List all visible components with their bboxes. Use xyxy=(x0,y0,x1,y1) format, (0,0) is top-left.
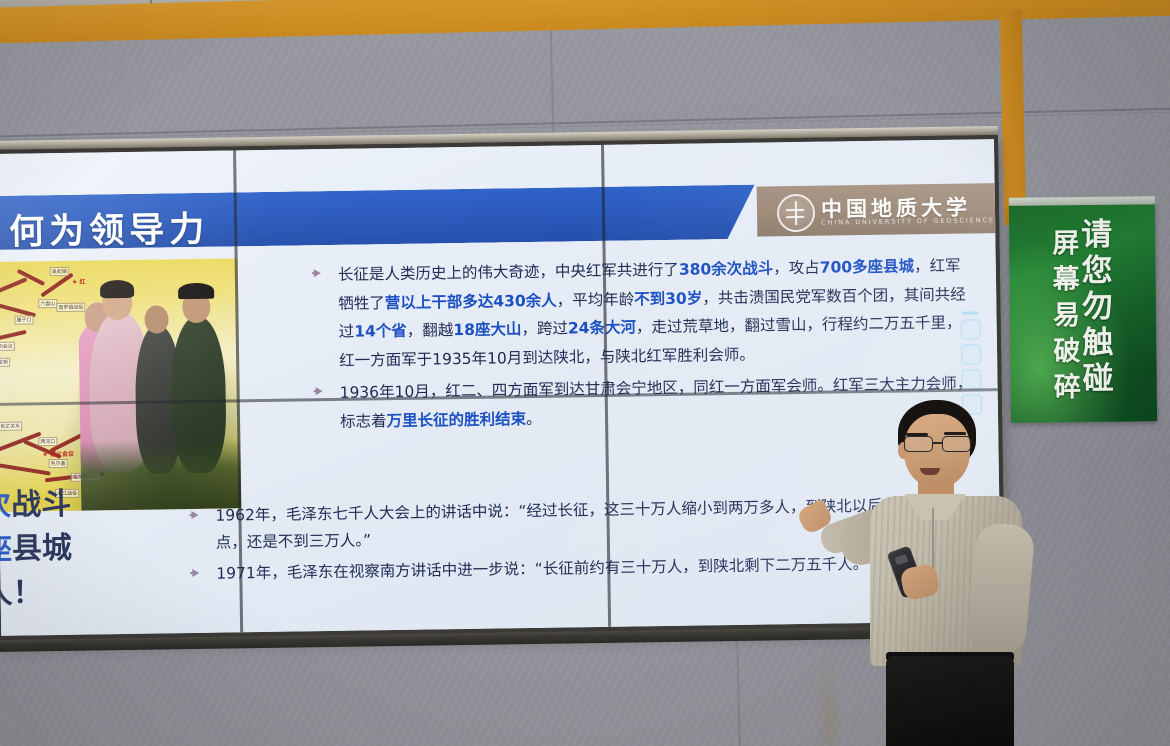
glasses-lens xyxy=(942,436,971,452)
trousers xyxy=(886,656,1014,746)
warning-line-left: 屏幕易破碎 xyxy=(1052,219,1081,408)
warning-char: 幕 xyxy=(1052,263,1079,296)
highlight-text: 24条大河 xyxy=(568,318,636,337)
slide-title: 何为领导力 xyxy=(9,201,210,255)
university-name-en: CHINA UNIVERSITY OF GEOSCIENCES xyxy=(821,216,1001,227)
bullet-arrow-icon xyxy=(316,387,323,395)
soldiers-photo xyxy=(78,258,242,510)
overlay-line: 余次战斗 xyxy=(0,481,192,529)
long-march-map-image: 吴起镇 六盘山 直罗镇战役 腊子口 懋功会议 泸定桥 百丈关水 两河口 毛尔盖 … xyxy=(0,258,241,512)
bullet-arrow-icon xyxy=(192,569,199,577)
overlay-line: 多座县城 xyxy=(0,525,192,573)
pen-icon[interactable] xyxy=(961,319,981,339)
right-arm xyxy=(966,522,1035,657)
warning-char: 碰 xyxy=(1083,363,1114,396)
list-item: 长征是人类历史上的伟大奇迹，中央红军共进行了380余次战斗，攻占700多座县城，… xyxy=(312,251,974,375)
plain-text: ，翻越 xyxy=(407,321,454,340)
glasses-icon xyxy=(902,436,972,451)
plain-text: ，平均年龄 xyxy=(557,290,635,309)
highlight-text: 万里长征的胜利结束 xyxy=(386,410,526,430)
highlight-text: 18座大山 xyxy=(453,320,521,339)
eyebrow xyxy=(944,432,966,435)
plain-text: ，跨过 xyxy=(521,319,568,338)
highlight-text: 700多座县城 xyxy=(820,257,915,276)
warning-line-right: 请您勿触碰 xyxy=(1081,219,1114,408)
highlight-text: 营以上干部多达430余人 xyxy=(385,291,557,312)
highlight-text: 14个省 xyxy=(354,322,407,341)
bullet-arrow-icon xyxy=(314,269,321,277)
highlight-text: 不到30岁 xyxy=(634,289,702,308)
warning-char: 请 xyxy=(1081,219,1112,252)
cug-emblem-icon xyxy=(777,194,816,233)
plain-text: 长征是人类历史上的伟大奇迹，中央红军共进行了 xyxy=(338,261,679,284)
bullet-text: 1971年，毛泽东在视察南方讲话中进一步说：“长征前约有三十万人，到陕北剩下二万… xyxy=(216,555,868,583)
warning-char: 屏 xyxy=(1052,227,1079,260)
warning-char: 易 xyxy=(1053,299,1080,332)
wall-accent-column xyxy=(1000,10,1026,225)
warning-char: 触 xyxy=(1082,327,1113,360)
warning-char: 您 xyxy=(1081,255,1112,288)
university-logo-bar: 中国地质大学 CHINA UNIVERSITY OF GEOSCIENCES xyxy=(757,183,1001,237)
presenter-person xyxy=(846,398,1046,746)
glasses-lens xyxy=(904,436,933,452)
warning-char: 碎 xyxy=(1054,371,1081,404)
bullet-text: 长征是人类历史上的伟大奇迹，中央红军共进行了380余次战斗，攻占700多座县城，… xyxy=(338,257,966,370)
screen-fragile-warning-sign: 请您勿触碰 屏幕易破碎 xyxy=(1009,204,1157,423)
lecture-hall-scene: 何为领导力 中国地质大学 CHINA UNIVERSITY OF GEOSCIE… xyxy=(0,0,1170,746)
warning-char: 破 xyxy=(1053,335,1080,368)
bullet-arrow-icon xyxy=(191,511,198,519)
shirt-placket xyxy=(932,508,934,568)
toolbar-drag-handle[interactable] xyxy=(963,311,979,314)
warning-char: 勿 xyxy=(1082,291,1113,324)
plain-text: 1971年，毛泽东在视察南方讲话中进一步说：“长征前约有三十万人，到陕北剩下二万… xyxy=(216,555,868,583)
overlay-left-text: 余次战斗 多座县城 余人！ xyxy=(0,481,193,617)
pointer-icon[interactable] xyxy=(961,344,981,364)
plain-text: ，攻占 xyxy=(773,259,820,278)
highlight-text: 380余次战斗 xyxy=(679,259,774,278)
plain-text: 。 xyxy=(526,409,542,427)
home-icon[interactable] xyxy=(961,369,981,389)
overlay-line: 余人！ xyxy=(0,569,193,617)
